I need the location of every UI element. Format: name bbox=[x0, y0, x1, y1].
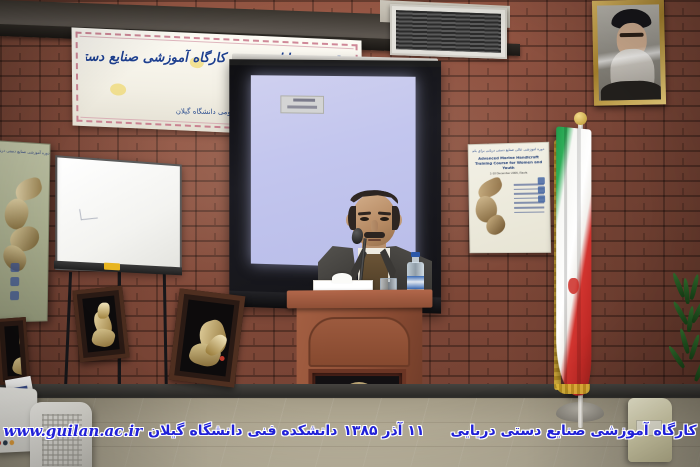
dialog-line bbox=[293, 99, 315, 102]
shell-ornament bbox=[11, 355, 22, 377]
podium-top bbox=[287, 289, 433, 308]
artwork-canvas bbox=[4, 326, 21, 377]
artwork-accent bbox=[219, 356, 225, 362]
storage-bag bbox=[628, 398, 672, 462]
shell-ornament bbox=[19, 331, 22, 347]
whiteboard-assembly bbox=[56, 160, 184, 290]
portrait-robe bbox=[601, 80, 661, 100]
bag-label bbox=[636, 420, 662, 436]
framed-artwork bbox=[0, 317, 30, 385]
flag-finial bbox=[574, 112, 587, 125]
tissue-sheet bbox=[332, 273, 352, 283]
rollup-artwork bbox=[0, 178, 46, 289]
eye bbox=[360, 217, 369, 221]
banner-flower bbox=[110, 83, 126, 96]
portrait-image bbox=[597, 4, 661, 100]
hair-side bbox=[348, 206, 356, 230]
nose bbox=[371, 220, 378, 232]
poster-artwork bbox=[473, 178, 513, 236]
portrait-brow bbox=[620, 33, 644, 38]
wall-poster: دوره آموزشی عالی صنایع دستی دریایی برای … bbox=[468, 142, 551, 253]
poster-english-title: Advanced Marine Handicraft Training Cour… bbox=[473, 154, 545, 171]
poster-persian-title: دوره آموزشی عالی صنایع دستی دریایی برای … bbox=[473, 147, 545, 154]
monitor-indicators bbox=[0, 432, 16, 451]
whiteboard-marker bbox=[104, 263, 120, 271]
whiteboard-marking bbox=[79, 207, 98, 220]
hair-side bbox=[392, 206, 400, 230]
dialog-line bbox=[287, 105, 317, 108]
khomeini-portrait bbox=[592, 0, 666, 106]
air-conditioner-grille bbox=[390, 4, 507, 59]
projected-dialog bbox=[280, 95, 324, 113]
flag-fold bbox=[577, 128, 581, 395]
bottle-label bbox=[407, 276, 424, 289]
iran-flag bbox=[556, 126, 591, 397]
tower-vent bbox=[42, 414, 82, 466]
framed-artwork bbox=[72, 286, 129, 363]
rollup-logos bbox=[10, 263, 20, 305]
plant-leaf bbox=[689, 274, 700, 300]
computer-equipment bbox=[0, 388, 100, 467]
shell-ornament bbox=[91, 326, 117, 349]
mustache bbox=[364, 232, 385, 238]
bottle-cap bbox=[411, 252, 420, 257]
rollup-banner: دوره آموزشی صنایع دستی دریایی پیشرفته وی… bbox=[0, 140, 51, 323]
artwork-canvas bbox=[82, 295, 119, 352]
potted-plant bbox=[672, 272, 700, 422]
artwork-canvas bbox=[180, 299, 234, 376]
mouth bbox=[368, 239, 381, 241]
plant-leaf bbox=[693, 356, 700, 382]
conference-photo: مقدم میهمانان محترم کارگاه آموزشی صنایع … bbox=[0, 0, 700, 467]
whiteboard bbox=[55, 155, 181, 274]
plant-leaf bbox=[683, 278, 691, 304]
flag-fold bbox=[564, 127, 567, 397]
plant-leaf bbox=[688, 334, 700, 360]
framed-artwork bbox=[169, 288, 246, 387]
rollup-title: دوره آموزشی صنایع دستی دریایی پیشرفته وی… bbox=[0, 147, 49, 156]
shell-ornament bbox=[98, 303, 110, 319]
vent-louvers bbox=[396, 10, 501, 53]
poster-date: 1-10 December 2006, Rasht bbox=[473, 170, 545, 176]
computer-tower bbox=[30, 402, 92, 467]
eye bbox=[380, 217, 389, 221]
bottle-neck bbox=[412, 257, 419, 263]
podium-arch-panel bbox=[308, 317, 410, 367]
poster-logos bbox=[538, 177, 546, 204]
flag-bottom-fringe bbox=[556, 384, 590, 394]
